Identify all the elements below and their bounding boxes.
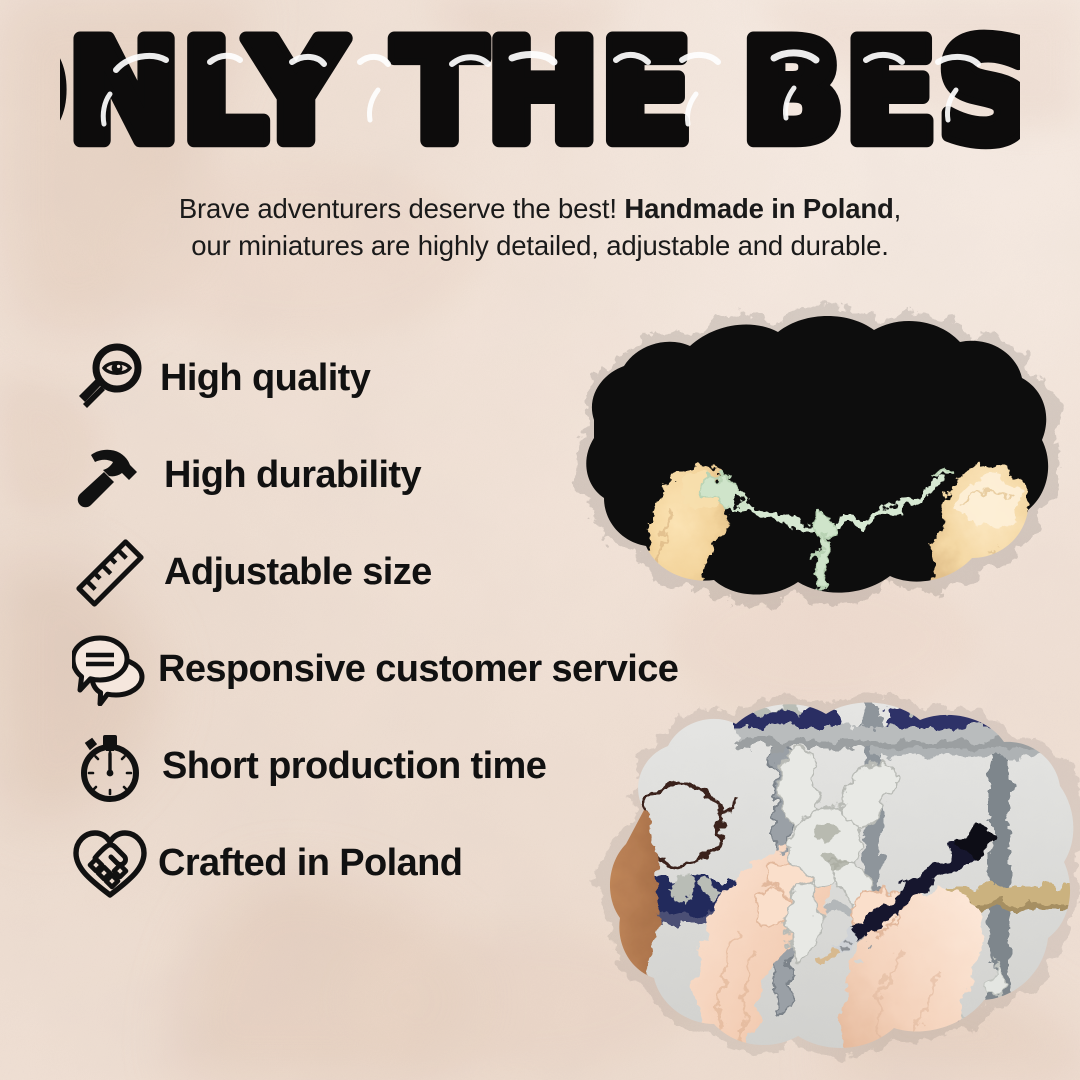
feature-label: High quality — [160, 357, 370, 400]
feature-label: Responsive customer service — [158, 648, 678, 691]
subtitle: Brave adventurers deserve the best! Hand… — [0, 190, 1080, 264]
speech-bubbles-icon — [62, 626, 158, 714]
subtitle-line-1: Brave adventurers deserve the best! Hand… — [0, 190, 1080, 227]
hammer-icon — [62, 432, 158, 520]
subtitle-text-bold: Handmade in Poland — [624, 193, 893, 224]
ruler-icon — [62, 529, 158, 617]
heart-handshake-icon — [62, 820, 158, 908]
feature-label: Short production time — [162, 745, 546, 788]
page-title: ONLY THE BEST — [60, 28, 1020, 168]
title-block: ONLY THE BEST — [0, 28, 1080, 168]
promotional-poster: ONLY THE BEST — [0, 0, 1080, 1080]
magnifier-eye-icon — [62, 335, 158, 423]
left-forearm — [586, 789, 659, 1046]
feature-label: Crafted in Poland — [158, 842, 462, 885]
page-title-text: ONLY THE BEST — [60, 28, 1020, 168]
stopwatch-icon — [62, 723, 158, 811]
flexing-miniature-photo — [528, 300, 1080, 630]
feature-label: High durability — [164, 454, 421, 497]
subtitle-text-lead: Brave adventurers deserve the best! — [179, 193, 625, 224]
subtitle-line-2: our miniatures are highly detailed, adju… — [0, 227, 1080, 264]
painting-miniature-photo — [586, 690, 1080, 1080]
feature-label: Adjustable size — [164, 551, 432, 594]
subtitle-text-trail: , — [894, 193, 902, 224]
